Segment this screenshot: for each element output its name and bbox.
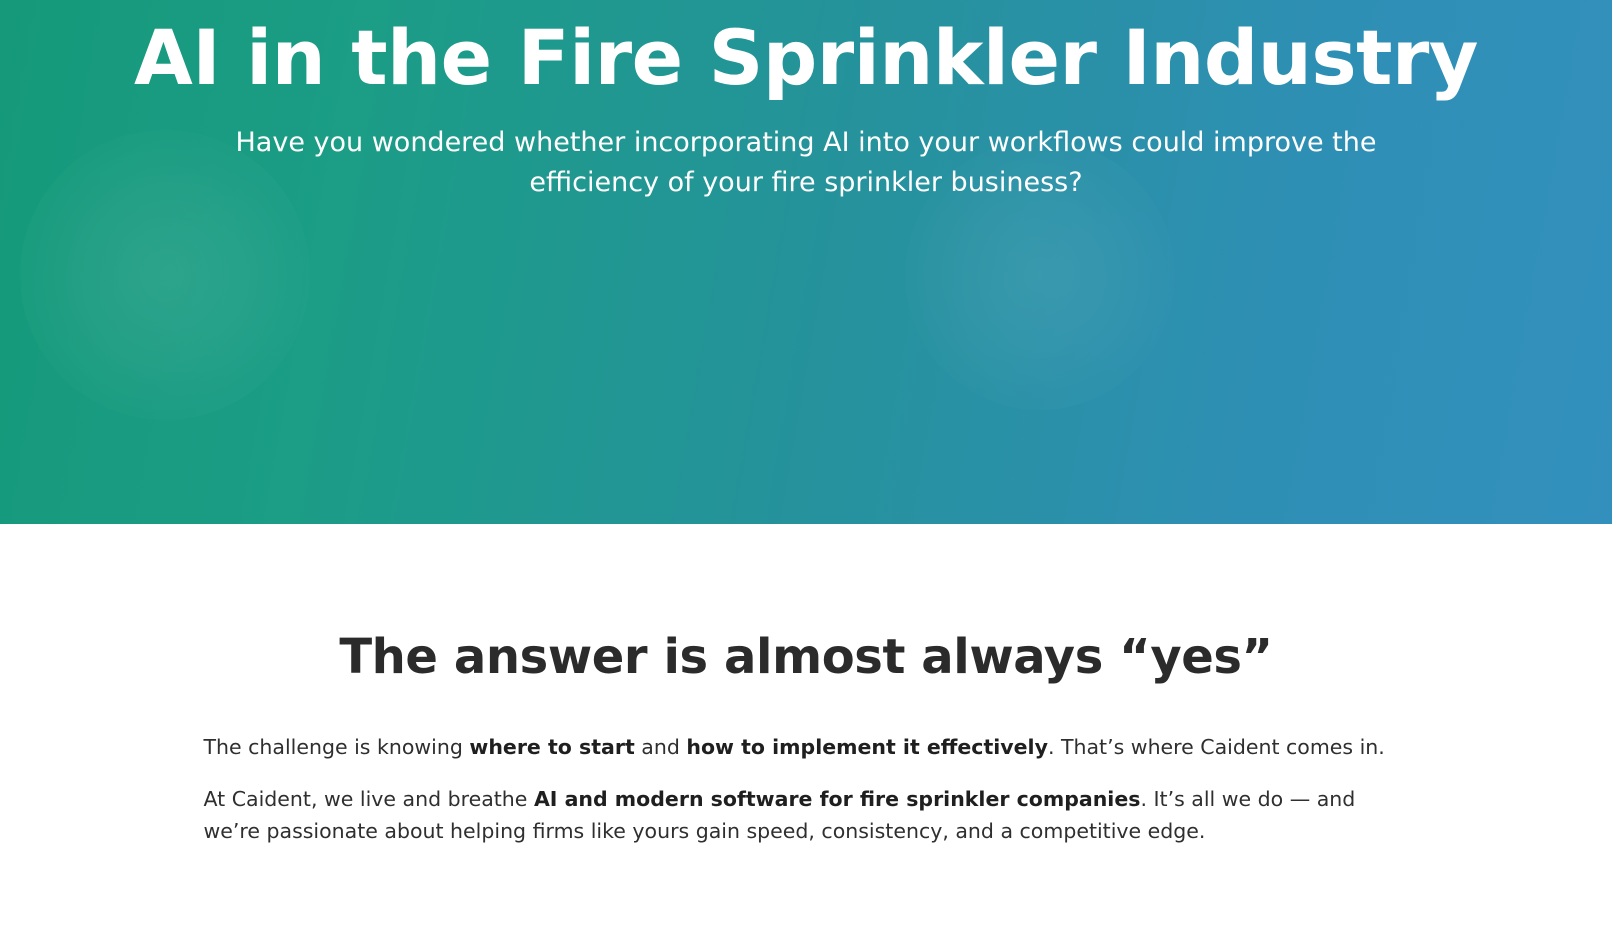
emphasis-run: where to start [469,735,634,759]
main-content: The answer is almost always “yes” The ch… [0,524,1612,848]
body-paragraph-1: The challenge is knowing where to start … [204,731,1409,763]
text-run: The challenge is knowing [204,735,470,759]
hero-subtitle: Have you wondered whether incorporating … [184,123,1429,201]
section-heading: The answer is almost always “yes” [204,629,1409,687]
body-paragraph-2: At Caident, we live and breathe AI and m… [204,783,1409,848]
content-container: The answer is almost always “yes” The ch… [199,629,1414,848]
text-run: . That’s where Caident comes in. [1048,735,1385,759]
hero-banner: AI in the Fire Sprinkler Industry Have y… [0,0,1612,524]
emphasis-run: how to implement it effectively [686,735,1048,759]
text-run: and [635,735,687,759]
hero-title: AI in the Fire Sprinkler Industry [86,14,1526,101]
page-root: AI in the Fire Sprinkler Industry Have y… [0,0,1612,926]
emphasis-run: AI and modern software for fire sprinkle… [534,787,1141,811]
text-run: At Caident, we live and breathe [204,787,534,811]
hero-content: AI in the Fire Sprinkler Industry Have y… [86,0,1526,202]
